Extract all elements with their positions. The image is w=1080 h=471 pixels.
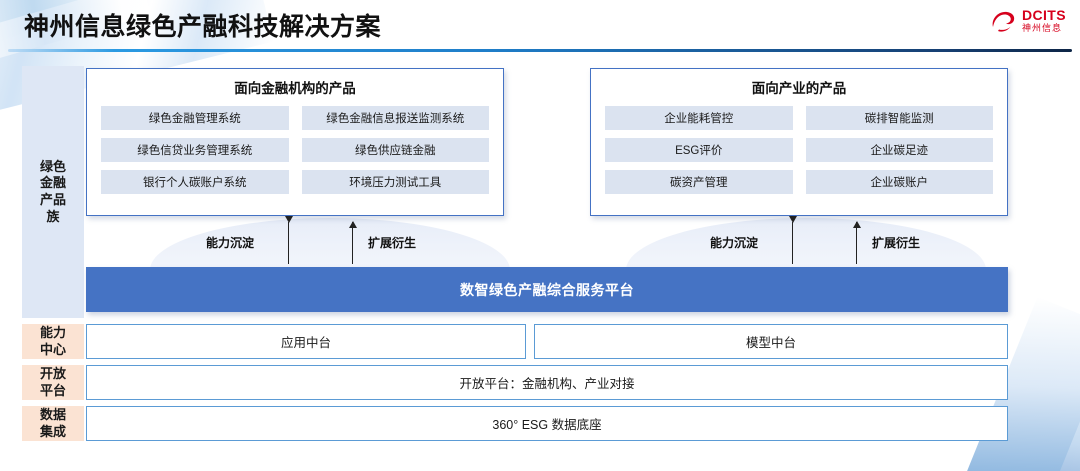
product-chip[interactable]: 绿色信贷业务管理系统 [101,138,289,162]
rail-label-data-integration: 数据 集成 [22,406,84,441]
product-chip[interactable]: 银行个人碳账户系统 [101,170,289,194]
layer-box-open-platform[interactable]: 开放平台：金融机构、产业对接 [86,365,1008,400]
decor-bottom-right-swoosh-2 [1031,348,1080,471]
rail-label-open-platform-text: 开放 平台 [37,366,69,399]
slide-header: 神州信息绿色产融科技解决方案 DCITS 神州信息 [0,0,1080,52]
flow-label-extension-derivation: 扩展衍生 [368,234,416,251]
product-chip[interactable]: 碳排智能监测 [806,106,994,130]
product-chip[interactable]: 绿色金融管理系统 [101,106,289,130]
logo-text-en: DCITS [1022,8,1066,22]
flow-group-right: 能力沉淀 扩展衍生 [700,222,930,268]
page-title: 神州信息绿色产融科技解决方案 [24,7,381,43]
product-group-title: 面向产业的产品 [591,77,1007,97]
product-chip-grid: 企业能耗管控 碳排智能监测 ESG评价 企业碳足迹 碳资产管理 企业碳账户 [591,97,1007,194]
flow-label-capability-precipitation: 能力沉淀 [710,234,758,251]
platform-bar-label: 数智绿色产融综合服务平台 [460,280,634,300]
product-group-industry: 面向产业的产品 企业能耗管控 碳排智能监测 ESG评价 企业碳足迹 碳资产管理 … [590,68,1008,216]
slide-canvas: 神州信息绿色产融科技解决方案 DCITS 神州信息 绿色 金融 产品 族 能力 … [0,0,1080,471]
layer-box-open-platform-label: 开放平台：金融机构、产业对接 [459,373,634,392]
product-chip[interactable]: 绿色金融信息报送监测系统 [302,106,490,130]
product-chip[interactable]: 企业能耗管控 [605,106,793,130]
product-chip[interactable]: 绿色供应链金融 [302,138,490,162]
layer-box-app-middle-label: 应用中台 [281,332,331,351]
layer-box-data-base-label: 360° ESG 数据底座 [492,414,601,433]
product-group-financial-institutions: 面向金融机构的产品 绿色金融管理系统 绿色金融信息报送监测系统 绿色信贷业务管理… [86,68,504,216]
product-chip[interactable]: 企业碳账户 [806,170,994,194]
product-chip[interactable]: ESG评价 [605,138,793,162]
rail-label-data-integration-text: 数据 集成 [37,407,69,440]
rail-label-open-platform: 开放 平台 [22,365,84,400]
rail-label-ability-center-text: 能力 中心 [37,325,69,358]
product-chip[interactable]: 碳资产管理 [605,170,793,194]
flow-label-extension-derivation: 扩展衍生 [872,234,920,251]
product-chip-grid: 绿色金融管理系统 绿色金融信息报送监测系统 绿色信贷业务管理系统 绿色供应链金融… [87,97,503,194]
rail-label-green-finance-products: 绿色 金融 产品 族 [22,66,84,318]
platform-bar[interactable]: 数智绿色产融综合服务平台 [86,267,1008,312]
rail-label-ability-center: 能力 中心 [22,324,84,359]
flow-group-left: 能力沉淀 扩展衍生 [196,222,426,268]
logo-text-cn: 神州信息 [1022,24,1066,33]
layer-box-model-middle[interactable]: 模型中台 [534,324,1008,359]
brand-logo: DCITS 神州信息 [990,8,1066,33]
dcits-swirl-icon [990,9,1016,33]
layer-box-app-middle[interactable]: 应用中台 [86,324,526,359]
layer-box-data-base[interactable]: 360° ESG 数据底座 [86,406,1008,441]
layer-box-model-middle-label: 模型中台 [746,332,796,351]
rail-label-green-finance-products-text: 绿色 金融 产品 族 [38,159,68,226]
product-chip[interactable]: 企业碳足迹 [806,138,994,162]
header-divider [8,49,1072,52]
flow-label-capability-precipitation: 能力沉淀 [206,234,254,251]
product-chip[interactable]: 环境压力测试工具 [302,170,490,194]
product-group-title: 面向金融机构的产品 [87,77,503,97]
